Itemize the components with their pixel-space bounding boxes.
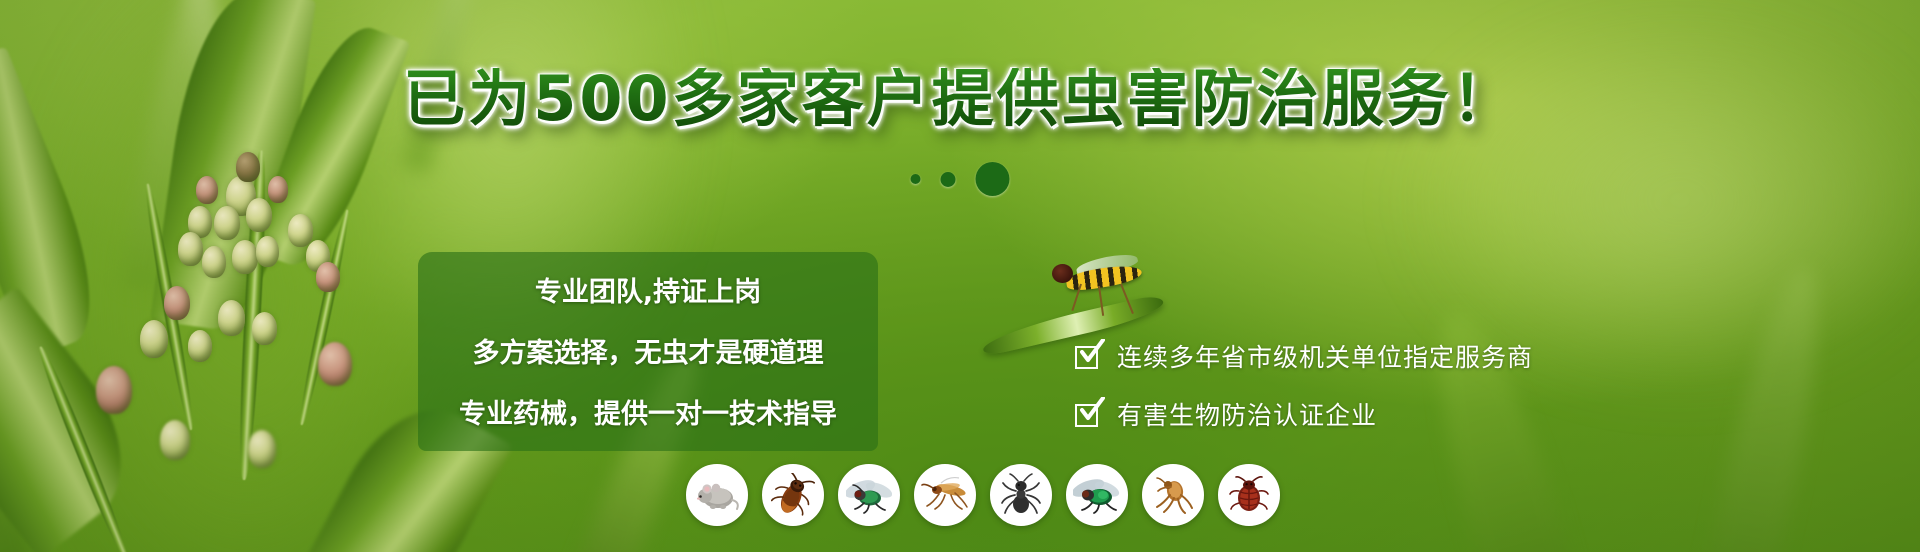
slogan-line-2: 多方案选择，无虫才是硬道理 [440, 331, 856, 370]
decorative-dot-medium [941, 172, 956, 187]
cockroach-icon[interactable] [762, 464, 824, 526]
flea-icon[interactable] [1142, 464, 1204, 526]
pest-control-hero-banner: 已为500多家客户提供虫害防治服务！ 专业团队,持证上岗 多方案选择，无虫才是硬… [0, 0, 1920, 552]
decorative-dots-group [911, 162, 1010, 196]
mouse-icon[interactable] [686, 464, 748, 526]
decorative-dot-small [911, 174, 921, 184]
pest-types-row [686, 464, 1280, 526]
bedbug-icon[interactable] [1218, 464, 1280, 526]
checkbox-checked-icon [1075, 400, 1103, 428]
checklist-item: 有害生物防治认证企业 [1075, 396, 1533, 432]
credentials-checklist: 连续多年省市级机关单位指定服务商 有害生物防治认证企业 [1075, 338, 1533, 454]
ant-icon[interactable] [990, 464, 1052, 526]
blowfly-icon[interactable] [1066, 464, 1128, 526]
mosquito-icon[interactable] [914, 464, 976, 526]
slogan-line-3: 专业药械，提供一对一技术指导 [440, 392, 856, 431]
fly-head [1052, 264, 1073, 283]
slogan-line-1: 专业团队,持证上岗 [440, 270, 856, 309]
housefly-icon[interactable] [838, 464, 900, 526]
decorative-dot-large [976, 162, 1010, 196]
checklist-item: 连续多年省市级机关单位指定服务商 [1075, 338, 1533, 374]
checkbox-checked-icon [1075, 342, 1103, 370]
slogan-panel: 专业团队,持证上岗 多方案选择，无虫才是硬道理 专业药械，提供一对一技术指导 [418, 252, 878, 451]
checklist-item-label: 有害生物防治认证企业 [1117, 396, 1377, 432]
page-title: 已为500多家客户提供虫害防治服务！ [0, 68, 1920, 130]
checklist-item-label: 连续多年省市级机关单位指定服务商 [1117, 338, 1533, 374]
